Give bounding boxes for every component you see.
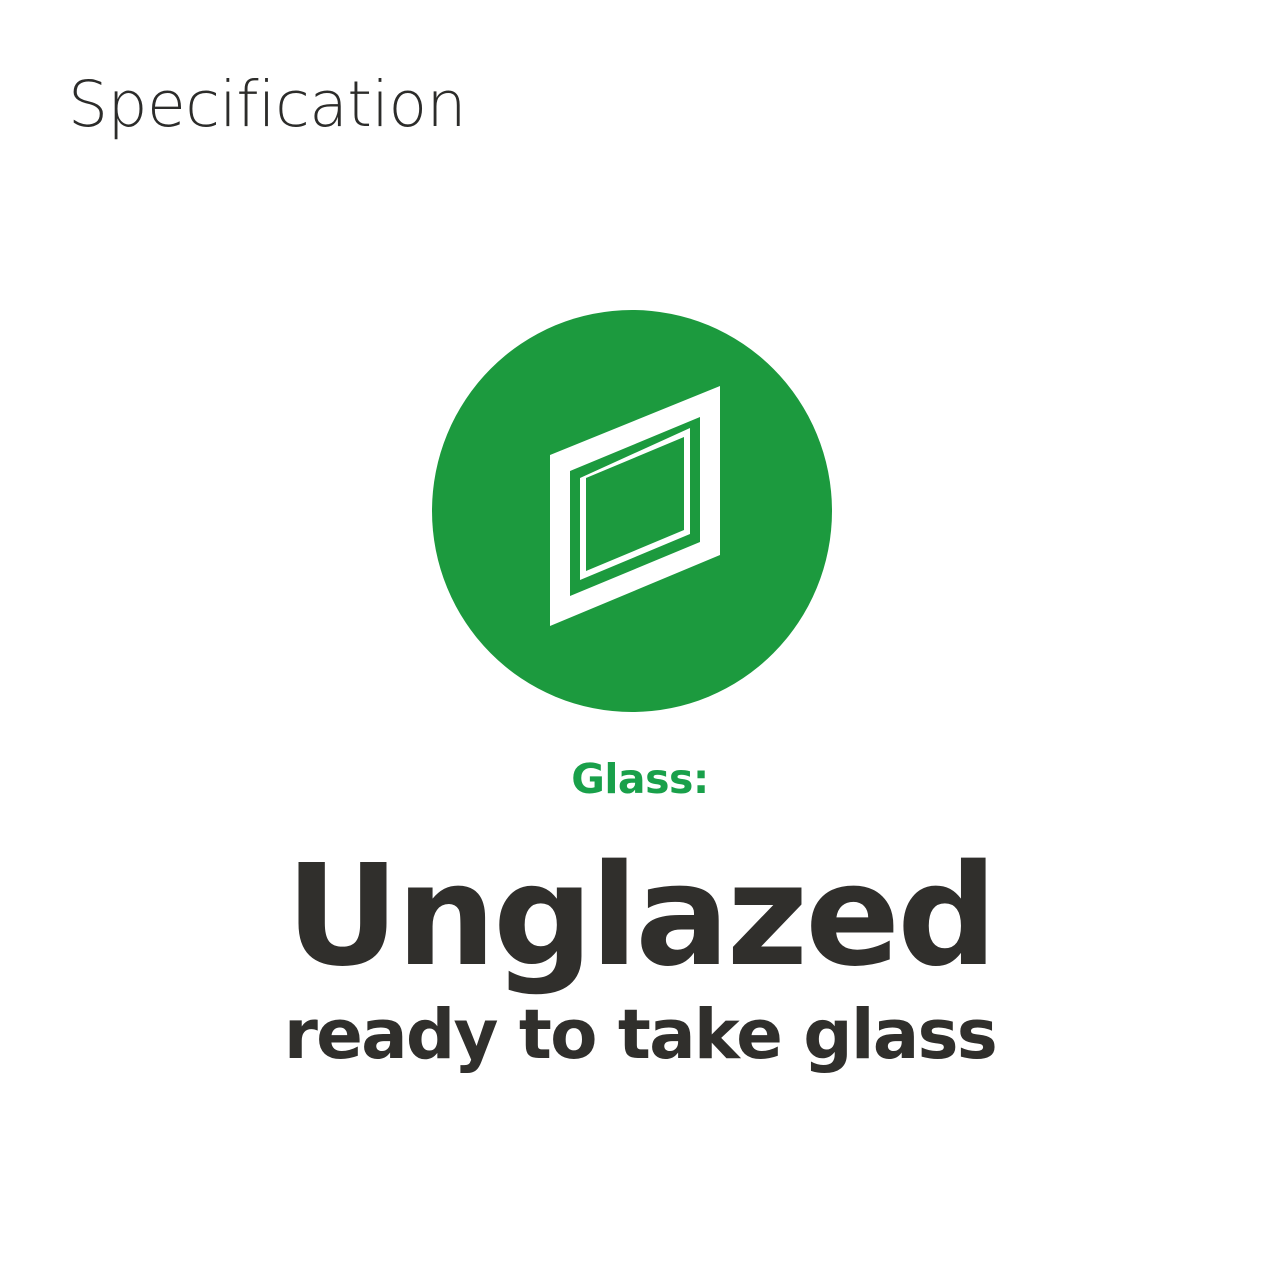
unglazed-window-frame-icon (432, 310, 832, 712)
page-title: Specification (68, 72, 466, 138)
caption-block: Glass: Unglazed ready to take glass (0, 756, 1280, 1072)
window-frame-glyph (432, 310, 832, 712)
headline: Unglazed (0, 847, 1280, 987)
glass-label: Glass: (0, 756, 1280, 803)
specification-card: Specification Glass: Unglazed ready to t… (0, 0, 1280, 1280)
subline: ready to take glass (0, 999, 1280, 1071)
